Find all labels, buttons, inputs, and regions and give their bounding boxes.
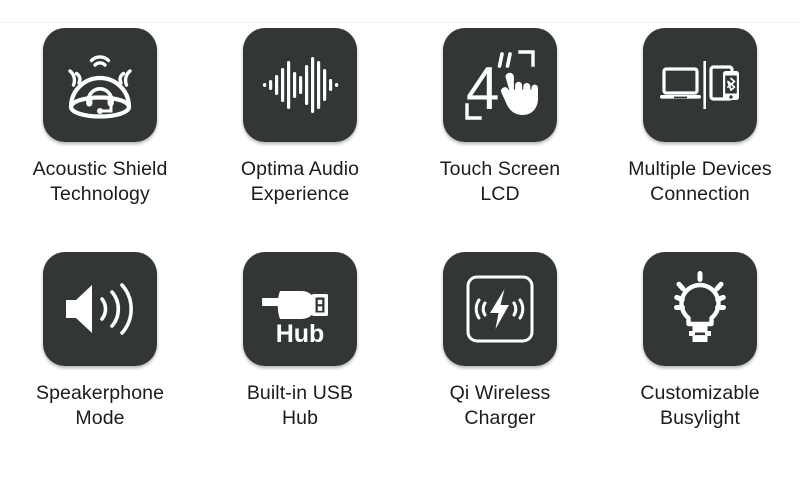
touch-screen-hand-icon: 4 [454, 39, 546, 131]
feature-caption: Multiple Devices Connection [628, 157, 772, 207]
feature-tile[interactable] [43, 28, 157, 142]
laptop-tablet-phone-bluetooth-icon [654, 39, 746, 131]
svg-text:4: 4 [466, 55, 499, 122]
top-divider [0, 22, 800, 23]
feature-item-qi-wireless-charger[interactable]: Qi Wireless Charger [400, 252, 600, 476]
feature-item-speakerphone-mode[interactable]: Speakerphone Mode [0, 252, 200, 476]
feature-caption: Built-in USB Hub [247, 381, 353, 431]
audio-waveform-icon [254, 39, 346, 131]
feature-tile[interactable] [43, 252, 157, 366]
speaker-volume-icon [54, 263, 146, 355]
feature-row-2: Speakerphone Mode [0, 252, 800, 476]
feature-item-acoustic-shield-technology[interactable]: Acoustic Shield Technology [0, 28, 200, 252]
feature-caption: Acoustic Shield Technology [33, 157, 168, 207]
feature-tile[interactable]: 4 [443, 28, 557, 142]
feature-tile[interactable] [243, 28, 357, 142]
feature-row-1: Acoustic Shield Technology [0, 28, 800, 252]
feature-tile[interactable]: Hub [243, 252, 357, 366]
feature-item-built-in-usb-hub[interactable]: Hub Built-in USB Hub [200, 252, 400, 476]
feature-caption: Customizable Busylight [640, 381, 759, 431]
lightbulb-icon [654, 263, 746, 355]
wireless-charging-pad-icon [454, 263, 546, 355]
feature-item-customizable-busylight[interactable]: Customizable Busylight [600, 252, 800, 476]
usb-plug-icon: Hub [254, 263, 346, 355]
feature-grid-page: Acoustic Shield Technology [0, 0, 800, 480]
feature-item-multiple-devices-connection[interactable]: Multiple Devices Connection [600, 28, 800, 252]
feature-caption: Speakerphone Mode [36, 381, 164, 431]
feature-tile[interactable] [643, 252, 757, 366]
feature-tile[interactable] [443, 252, 557, 366]
feature-tile[interactable] [643, 28, 757, 142]
feature-caption: Optima Audio Experience [241, 157, 359, 207]
usb-hub-label: Hub [276, 320, 325, 348]
feature-caption: Touch Screen LCD [440, 157, 560, 207]
feature-grid: Acoustic Shield Technology [0, 28, 800, 476]
acoustic-shield-headset-icon [54, 39, 146, 131]
feature-caption: Qi Wireless Charger [450, 381, 551, 431]
feature-item-touch-screen-lcd[interactable]: 4 Touch Screen LCD [400, 28, 600, 252]
feature-item-optima-audio-experience[interactable]: Optima Audio Experience [200, 28, 400, 252]
